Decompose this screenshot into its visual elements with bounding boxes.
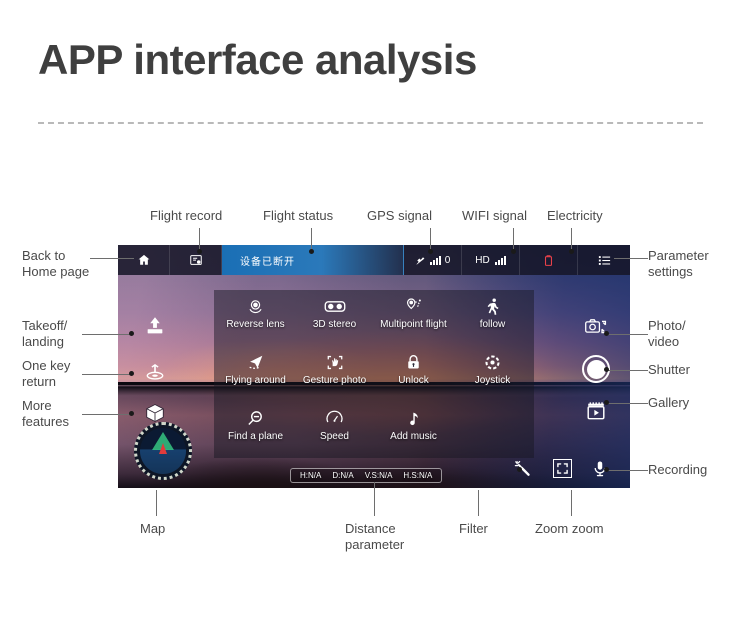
cube-icon	[144, 402, 166, 424]
annotation-back-to-home: Back to Home page	[22, 248, 89, 280]
feature-3d-stereo[interactable]: 3D stereo	[295, 296, 374, 352]
leader-parameter-settings	[614, 258, 648, 259]
annotation-filter: Filter	[459, 521, 488, 537]
leader-dot	[129, 331, 134, 336]
wifi-hd-label: HD	[475, 255, 489, 266]
page-title: APP interface analysis	[38, 36, 477, 84]
annotation-flight-record: Flight record	[150, 208, 222, 224]
music-note-icon	[406, 408, 422, 428]
annotation-parameter-settings: Parameter settings	[648, 248, 709, 280]
vr-goggles-icon	[324, 296, 346, 316]
gesture-frame-icon	[325, 352, 345, 372]
waypoint-pin-icon	[404, 296, 424, 316]
feature-menu-overlay: Reverse lens 3D stereo Multipoint fl	[214, 290, 534, 458]
annotation-distance-parameter: Distance parameter	[345, 521, 404, 553]
annotation-takeoff-landing: Takeoff/ landing	[22, 318, 67, 350]
title-divider	[38, 122, 703, 124]
leader-dot	[604, 400, 609, 405]
walking-person-icon	[484, 296, 502, 316]
feature-follow[interactable]: follow	[453, 296, 532, 352]
feature-speed[interactable]: Speed	[295, 408, 374, 464]
feature-label: 3D stereo	[313, 319, 356, 330]
leader-one-key-return	[82, 374, 132, 375]
annotation-more-features: More features	[22, 398, 69, 430]
list-settings-icon	[597, 253, 612, 268]
feature-label: Reverse lens	[226, 319, 284, 330]
reverse-lens-icon	[246, 296, 265, 316]
leader-recording	[608, 470, 648, 471]
feature-label: Speed	[320, 431, 349, 442]
wifi-signal-icon	[495, 256, 506, 265]
home-icon	[137, 253, 151, 267]
map-compass-widget[interactable]	[134, 422, 192, 480]
leader-dot	[604, 331, 609, 336]
gps-signal-bars	[430, 256, 441, 265]
map-dial	[140, 428, 186, 474]
leader-dot	[197, 249, 202, 254]
paper-plane-icon	[246, 352, 266, 372]
feature-label: Flying around	[225, 375, 286, 386]
feature-label: Unlock	[398, 375, 429, 386]
annotation-gallery: Gallery	[648, 395, 689, 411]
annotation-recording: Recording	[648, 462, 707, 478]
feature-label: follow	[480, 319, 506, 330]
device-screen: 设备已断开 0 HD	[118, 245, 630, 488]
feature-reverse-lens[interactable]: Reverse lens	[216, 296, 295, 352]
gps-satellite-count: 0	[445, 255, 451, 266]
feature-label: Joystick	[475, 375, 511, 386]
feature-find-a-plane[interactable]: Find a plane	[216, 408, 295, 464]
feature-label: Find a plane	[228, 431, 283, 442]
flight-record-button[interactable]	[170, 245, 222, 275]
feature-add-music[interactable]: Add music	[374, 408, 453, 464]
search-minus-icon	[246, 408, 265, 428]
one-key-return-button[interactable]	[140, 357, 170, 387]
parameter-settings-button[interactable]	[578, 245, 630, 275]
annotation-flight-status: Flight status	[263, 208, 333, 224]
feature-label: Add music	[390, 431, 437, 442]
magic-wand-icon	[513, 459, 532, 478]
flight-record-icon	[189, 253, 203, 267]
leader-dot	[428, 249, 433, 254]
heading-arrow	[159, 443, 167, 454]
status-bar: 设备已断开 0 HD	[118, 245, 630, 275]
leader-dot	[569, 249, 574, 254]
annotation-wifi-signal: WIFI signal	[462, 208, 527, 224]
upload-arrow-icon	[144, 315, 166, 337]
speedometer-icon	[325, 408, 344, 428]
lock-icon	[405, 352, 422, 372]
annotation-map: Map	[140, 521, 165, 537]
distance-parameter-bar: H:N/A D:N/A V.S:N/A H.S:N/A	[290, 468, 442, 483]
leader-dot	[604, 467, 609, 472]
leader-more-features	[82, 414, 132, 415]
connection-status-text: 设备已断开	[240, 253, 295, 268]
leader-dot	[511, 249, 516, 254]
return-home-icon	[144, 361, 166, 383]
leader-gallery	[608, 403, 648, 404]
feature-multipoint-flight[interactable]: Multipoint flight	[374, 296, 453, 352]
distance-param-height: H:N/A	[300, 471, 321, 480]
joystick-icon	[483, 352, 502, 372]
feature-label: Multipoint flight	[380, 319, 447, 330]
filter-button[interactable]	[510, 456, 534, 480]
distance-param-hspeed: H.S:N/A	[403, 471, 432, 480]
leader-dot	[517, 467, 522, 472]
feature-joystick[interactable]: Joystick	[453, 352, 532, 408]
leader-shutter	[608, 370, 648, 371]
distance-param-distance: D:N/A	[332, 471, 353, 480]
takeoff-landing-button[interactable]	[140, 311, 170, 341]
distance-param-vspeed: V.S:N/A	[365, 471, 393, 480]
leader-photo-video	[608, 334, 648, 335]
feature-flying-around[interactable]: Flying around	[216, 352, 295, 408]
leader-dot	[604, 367, 609, 372]
leader-filter	[478, 490, 479, 516]
leader-takeoff-landing	[82, 334, 132, 335]
feature-unlock[interactable]: Unlock	[374, 352, 453, 408]
leader-back-to-home	[90, 258, 134, 259]
annotation-zoom-zoom: Zoom zoom	[535, 521, 604, 537]
annotation-gps-signal: GPS signal	[367, 208, 432, 224]
battery-icon	[542, 253, 555, 268]
zoom-button[interactable]	[550, 456, 574, 480]
home-button[interactable]	[118, 245, 170, 275]
leader-dot	[129, 411, 134, 416]
gps-signal-indicator: 0	[404, 245, 462, 275]
annotation-electricity: Electricity	[547, 208, 603, 224]
feature-label: Gesture photo	[303, 375, 366, 386]
annotation-photo-video: Photo/ video	[648, 318, 686, 350]
photo-video-toggle-button[interactable]	[580, 313, 612, 341]
feature-gesture-photo[interactable]: Gesture photo	[295, 352, 374, 408]
leader-dot	[129, 371, 134, 376]
leader-dot	[309, 249, 314, 254]
annotation-one-key-return: One key return	[22, 358, 70, 390]
gps-satellite-icon	[415, 255, 426, 266]
leader-distance-parameter	[374, 482, 375, 516]
shutter-core	[587, 360, 606, 379]
expand-corners-icon	[553, 459, 572, 478]
annotation-shutter: Shutter	[648, 362, 690, 378]
leader-map	[156, 490, 157, 516]
leader-zoom-zoom	[571, 490, 572, 516]
